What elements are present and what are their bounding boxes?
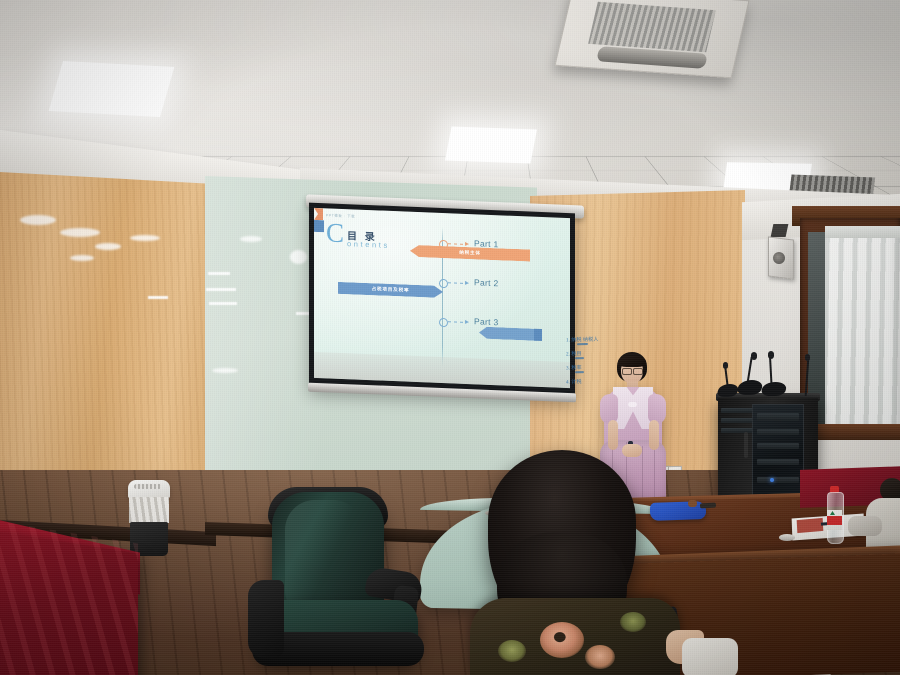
blue-cloth-item [650, 501, 706, 521]
ceiling-light-panel-1 [49, 61, 175, 117]
wall-streak [209, 302, 237, 305]
note-mark [575, 357, 584, 359]
microphone-capsule-2 [751, 352, 757, 360]
air-purifier-filter [129, 497, 169, 523]
timeline-arrow-3 [465, 320, 469, 324]
ribbon-text-1: 纳税主体 [459, 250, 481, 257]
ac-grille-icon [588, 2, 716, 52]
floral-pattern-flower [540, 622, 584, 658]
ribbon-tail-3 [534, 329, 542, 341]
microphone-capsule-1 [723, 362, 728, 369]
wall-smudge [60, 228, 100, 237]
floral-pattern-leaf [620, 612, 646, 632]
wall-smudge [290, 250, 307, 264]
wall-smudge [20, 215, 56, 225]
wall-smudge [240, 236, 262, 242]
presenter-bow [628, 402, 637, 407]
right-attendee-arm [848, 516, 882, 536]
wall-smudge [130, 235, 160, 241]
ribbon-text-2: 占税项目及税率 [372, 286, 410, 294]
wall-streak [148, 296, 168, 299]
wall-smudge [70, 255, 94, 261]
table-small-object [688, 500, 697, 507]
microphone-capsule-4 [805, 354, 810, 361]
presenter-sleeve-left [600, 394, 618, 424]
microphone-capsule-3 [768, 351, 774, 359]
conference-room-photo: PPT模板 · 下载 C 目 录 ontents Part 1 纳税主体 Par… [0, 0, 900, 675]
rack-unit [757, 443, 799, 449]
presenter-arm-right [649, 420, 659, 450]
rack-unit [757, 413, 799, 421]
air-purifier-vent-icon [134, 484, 162, 489]
wall-streak [206, 288, 236, 291]
speaker-cone-icon [773, 252, 785, 264]
rack-power-led-icon [770, 478, 774, 482]
presenter-sleeve-right [648, 394, 666, 424]
wall-streak [208, 272, 230, 275]
table-saucer-right [779, 534, 795, 541]
floral-pattern-leaf [498, 640, 526, 662]
rack-unit [757, 477, 799, 483]
speaker-mount-bracket [771, 224, 789, 237]
note-mark [577, 343, 588, 345]
air-purifier-top [128, 480, 170, 498]
chair-armrest-left [248, 580, 284, 658]
presenter-hands [622, 444, 642, 457]
ribbon-banner-3 [479, 326, 537, 340]
presenter-glasses-left [622, 368, 632, 375]
ceiling-light-panel-2 [445, 126, 537, 163]
av-rack-handle[interactable] [744, 432, 748, 458]
audience-sleeve [682, 638, 738, 675]
floral-pattern-flower [585, 645, 615, 669]
wall-smudge [95, 243, 121, 250]
window-curtain[interactable] [825, 228, 900, 430]
wall-smudge [212, 368, 238, 373]
velvet-sheen [0, 520, 138, 675]
contents-logo-letter: C [326, 221, 344, 244]
timeline-node-2 [439, 279, 448, 288]
presenter-arm-left [608, 420, 618, 450]
timeline-arrow-2 [465, 281, 469, 285]
bottle-label-band [827, 516, 842, 525]
presenter-fringe [618, 356, 646, 367]
curtain-rail [825, 226, 900, 238]
slide-heading-en: ontents [347, 239, 390, 250]
note-line: 4. 计税 [566, 378, 582, 385]
water-bottle-back [826, 486, 843, 542]
timeline-arrow-1 [465, 242, 469, 246]
note-mark [575, 371, 584, 373]
timeline-node-3 [439, 318, 448, 327]
rack-unit [757, 429, 799, 435]
rack-unit [757, 459, 799, 465]
presenter-glasses-right [633, 368, 643, 375]
part-label-2: Part 2 [474, 277, 498, 288]
red-folder [797, 518, 824, 533]
presentation-slide: PPT模板 · 下载 C 目 录 ontents Part 1 纳税主体 Par… [314, 208, 570, 388]
part-label-3: Part 3 [474, 316, 498, 327]
ribbon-tail-2 [314, 220, 324, 232]
